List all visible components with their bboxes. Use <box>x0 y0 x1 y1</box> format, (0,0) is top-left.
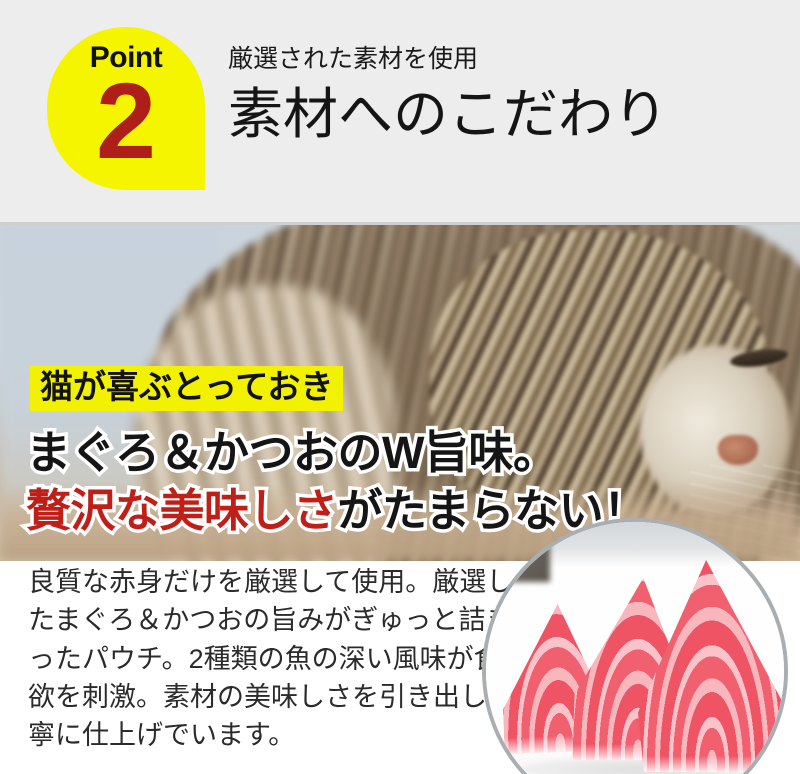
tuna-block-edge <box>638 756 786 772</box>
body-copy-line: 良質な赤身だけを厳選して使用。厳選し <box>28 563 458 601</box>
advertisement-page: Point 2 厳選された素材を使用 素材へのこだわり 猫が喜ぶとっておき まぐ… <box>0 0 800 774</box>
body-copy-line: 欲を刺激。素材の美味しさを引き出し丁 <box>28 678 458 716</box>
header-divider <box>0 222 800 225</box>
tuna-inset-dark-corner <box>482 530 550 582</box>
tuna-inset-photo <box>482 518 788 774</box>
body-copy: 良質な赤身だけを厳選して使用。厳選し たまぐろ＆かつおの旨みがぎゅっと詰ま った… <box>28 563 458 755</box>
body-copy-line: ったパウチ。2種類の魚の深い風味が食 <box>28 640 458 678</box>
point-badge: Point 2 <box>47 27 205 190</box>
headline-line-1: まぐろ＆かつおのW旨味。 <box>26 424 786 482</box>
header-subtitle: 厳選された素材を使用 <box>228 44 788 74</box>
page-header: Point 2 厳選された素材を使用 素材へのこだわり <box>0 0 800 224</box>
highlight-caption: 猫が喜ぶとっておき <box>30 366 343 411</box>
point-badge-number: 2 <box>47 67 205 175</box>
headline-line-2-emphasis: 贅沢な美味しさ <box>26 485 338 536</box>
body-copy-line: たまぐろ＆かつおの旨みがぎゅっと詰ま <box>28 601 458 639</box>
page-title: 素材へのこだわり <box>228 84 788 146</box>
header-text-group: 厳選された素材を使用 素材へのこだわり <box>228 44 788 146</box>
body-copy-line: 寧に仕上げでいます。 <box>28 716 458 754</box>
